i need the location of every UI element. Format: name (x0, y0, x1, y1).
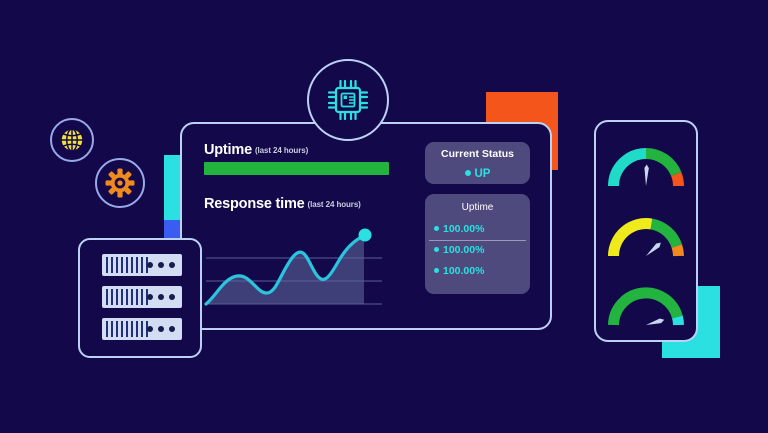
gauge-top (606, 140, 686, 192)
uptime-row: 100.00% (425, 221, 530, 242)
current-status-card[interactable]: Current Status UP (425, 142, 530, 184)
uptime-row: 100.00% (425, 263, 530, 284)
gauge-segment-cyan (614, 154, 647, 187)
server-led-group (147, 294, 177, 300)
uptime-card-label: Uptime (425, 202, 530, 213)
gauge-needle (645, 317, 665, 327)
gauge-meters-panel (594, 120, 698, 342)
current-status-value: UP (475, 168, 491, 180)
illustration-canvas: Uptime(last 24 hours) Response time(last… (0, 0, 768, 433)
response-time-chart (204, 218, 384, 316)
current-status-value-row: UP (425, 164, 530, 182)
response-time-title-text: Response time (204, 196, 305, 212)
response-time-section-title: Response time(last 24 hours) (204, 196, 361, 212)
uptime-row: 100.00% (425, 242, 530, 263)
server-unit (102, 286, 182, 308)
gauge-segment-orange (676, 174, 678, 186)
server-led-group (147, 262, 177, 268)
gauge-needle (644, 164, 649, 186)
accent-bar-top (164, 155, 180, 220)
chart-endpoint-marker (359, 229, 372, 242)
server-unit (102, 318, 182, 340)
uptime-section-title: Uptime(last 24 hours) (204, 142, 308, 158)
gauge-needle (644, 241, 662, 258)
server-rack-illustration (78, 238, 202, 358)
cpu-chip-badge (307, 59, 389, 141)
server-unit (102, 254, 182, 276)
gauge-segment-green (614, 293, 678, 325)
globe-badge (50, 118, 94, 162)
response-time-title-note: (last 24 hours) (308, 200, 361, 209)
gauge-segment-green (646, 154, 676, 175)
chip-core-dot (344, 96, 347, 99)
uptime-row-value: 100.00% (443, 265, 484, 277)
gear-icon (105, 168, 135, 198)
uptime-row-dot (434, 226, 439, 231)
server-led-group (147, 326, 177, 332)
current-status-label: Current Status (425, 148, 530, 160)
uptime-row-dot (434, 247, 439, 252)
gauge-middle (606, 210, 686, 262)
uptime-row-value: 100.00% (443, 244, 484, 256)
server-vent-bars (106, 321, 148, 337)
gauge-bottom (606, 279, 686, 331)
uptime-title-text: Uptime (204, 142, 252, 158)
uptime-title-note: (last 24 hours) (255, 146, 308, 155)
uptime-row-dot (434, 268, 439, 273)
gear-badge (95, 158, 145, 208)
uptime-summary-card[interactable]: Uptime 100.00% 100.00% 100.00% (425, 194, 530, 294)
uptime-progress-bar (204, 162, 389, 175)
uptime-row-value: 100.00% (443, 223, 484, 235)
uptime-monitoring-dashboard: Uptime(last 24 hours) Response time(last… (180, 122, 552, 330)
server-vent-bars (106, 257, 148, 273)
server-vent-bars (106, 289, 148, 305)
gauge-segment-green (652, 224, 677, 246)
globe-icon (59, 127, 85, 153)
gauge-segment-orange (677, 246, 679, 256)
status-indicator-dot (465, 170, 471, 176)
gauge-segment-cyan (677, 317, 678, 325)
cpu-chip-icon (325, 77, 371, 123)
gauge-segment-yellow (614, 224, 652, 256)
